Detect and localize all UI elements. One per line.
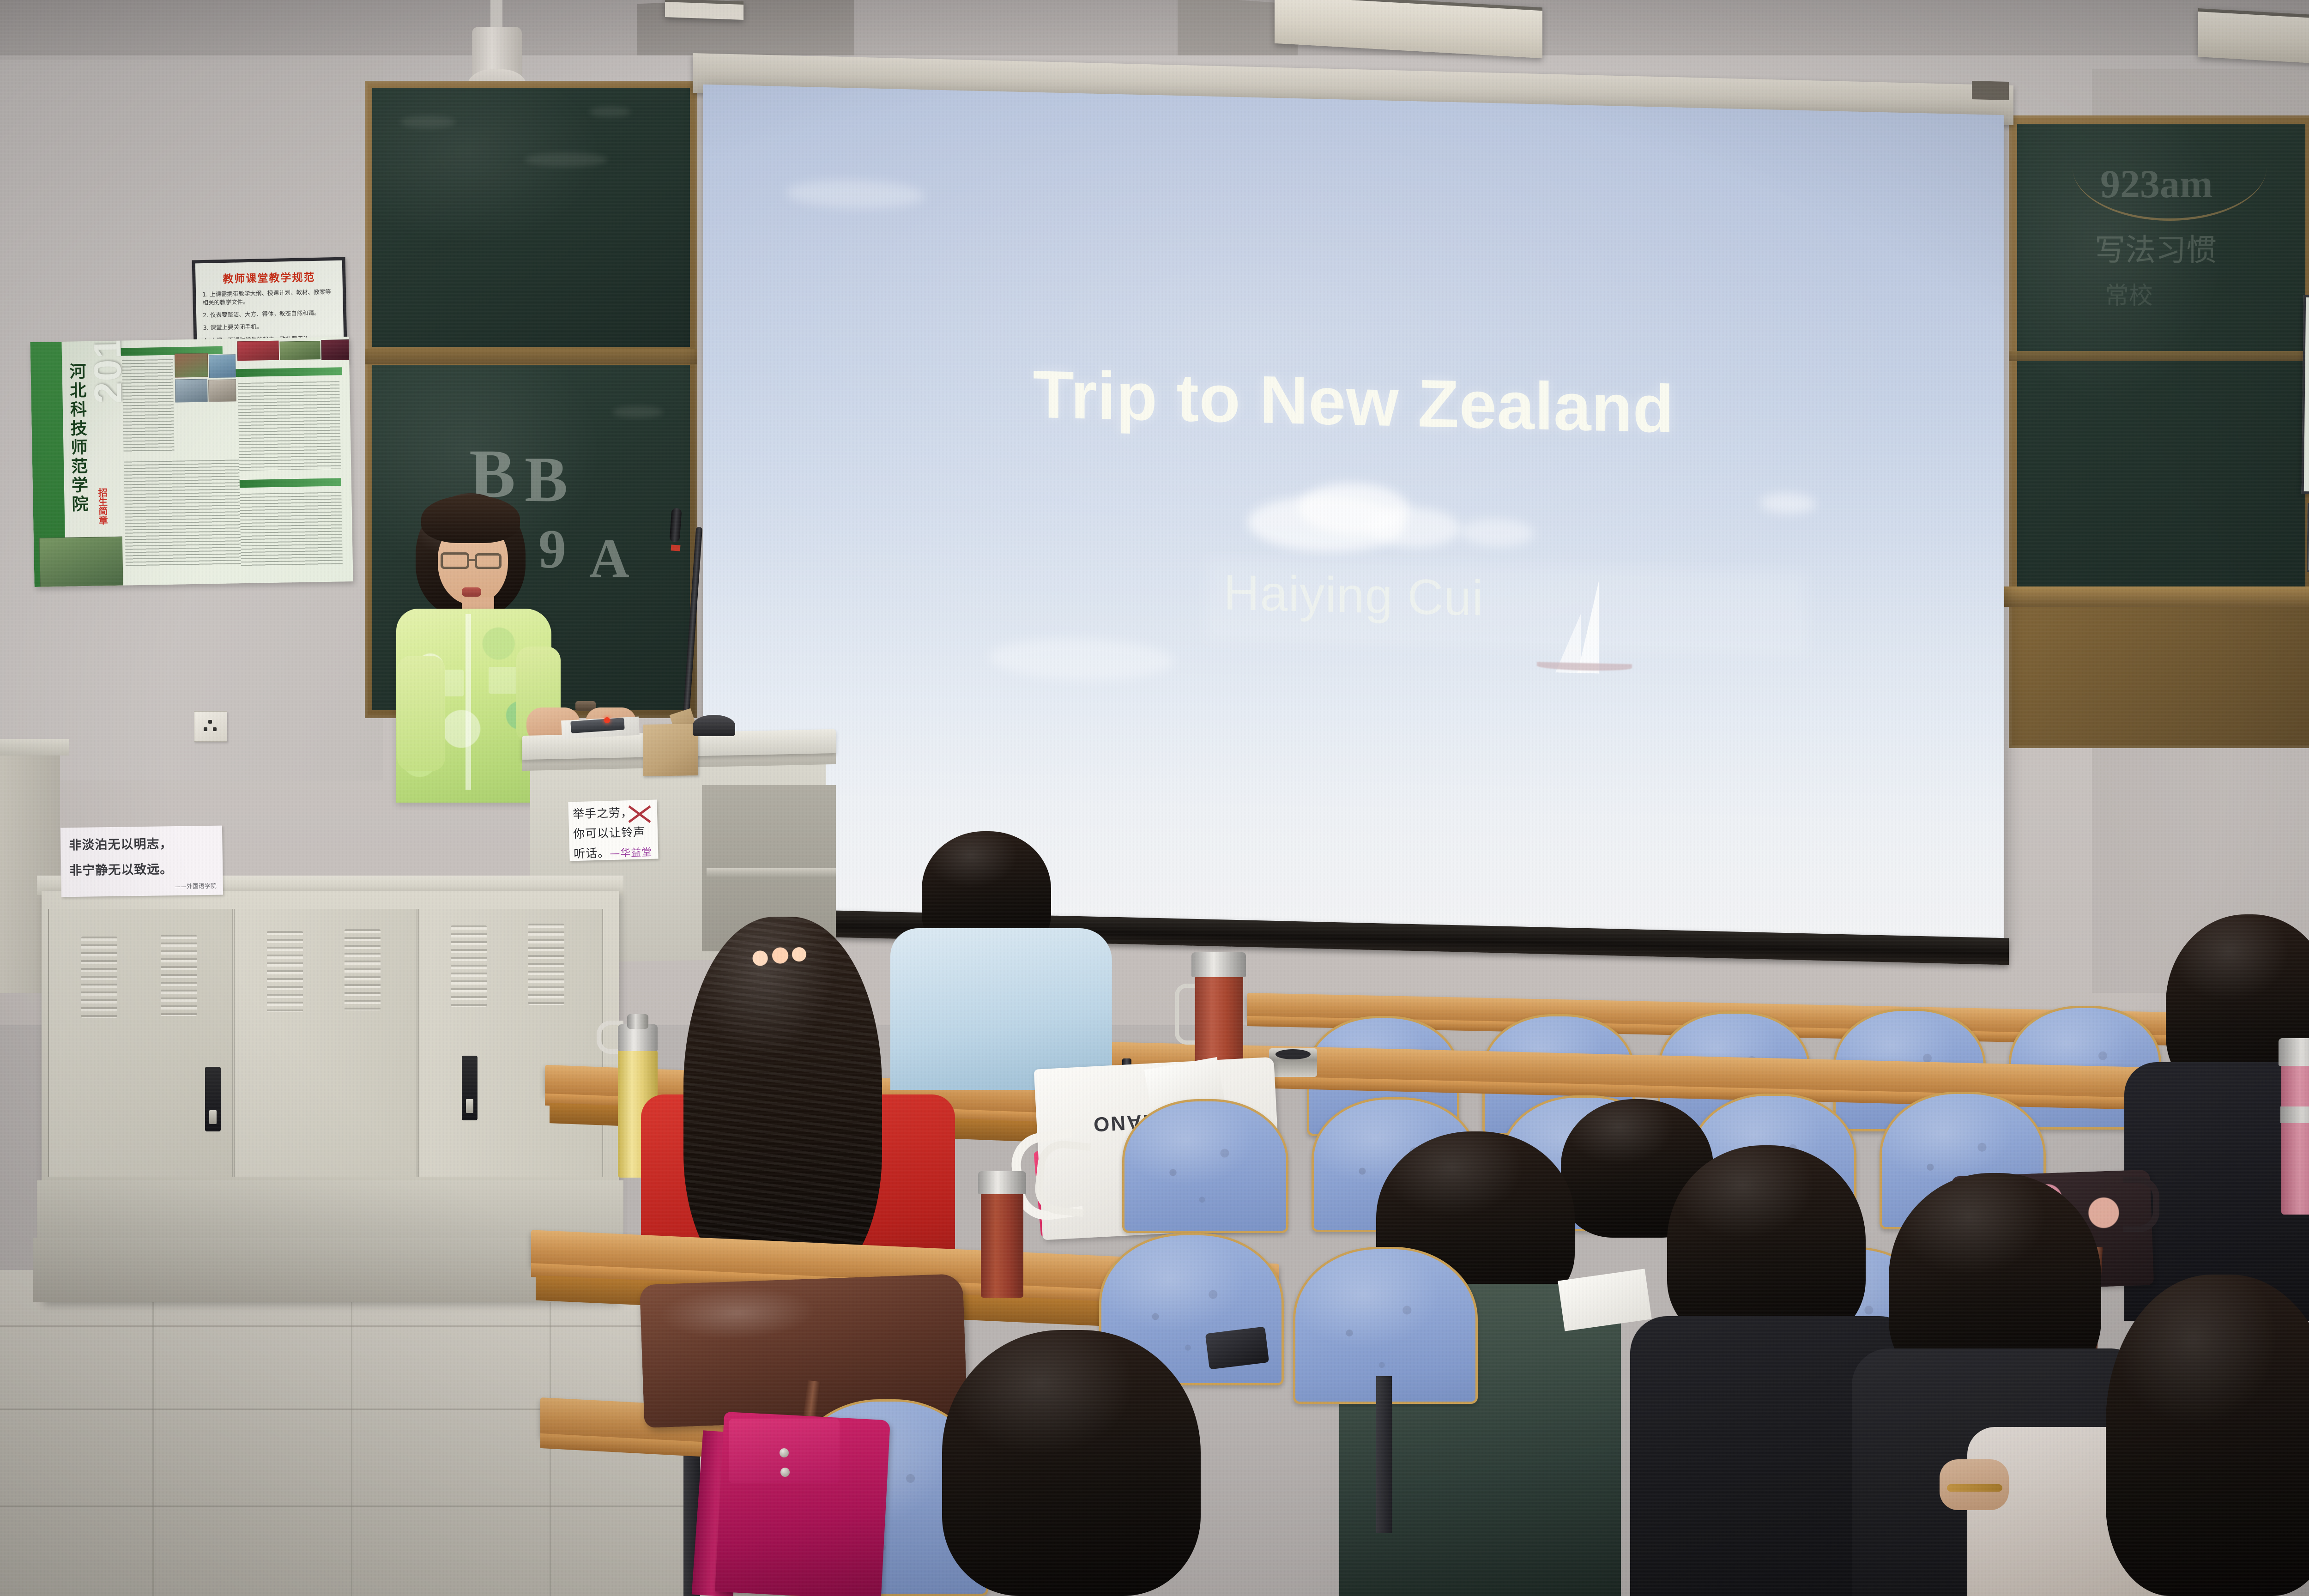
wall-notice <box>2307 503 2309 573</box>
poster-stamp: 招生简章 <box>96 488 109 525</box>
bracelet <box>1947 1484 2002 1492</box>
crossed-out-mark <box>627 804 652 824</box>
locker-vent <box>528 924 564 1005</box>
pink-thermos[interactable] <box>2281 1062 2309 1215</box>
chalk-letter: A <box>589 526 629 590</box>
locker-vent <box>345 929 381 1010</box>
poster-title: 教师课堂教学规范 <box>195 268 343 287</box>
bag-handle <box>2123 1177 2159 1232</box>
motto-line: 非淡泊无以明志， <box>69 833 223 853</box>
audience-person-long-hair <box>683 917 882 1286</box>
mobile-phone[interactable] <box>1205 1326 1269 1369</box>
poster-line: 1. 上课需携带教学大纲、授课计划、教材、教案等相关的教学文件。 <box>202 288 337 307</box>
red-thermos[interactable] <box>1195 973 1243 1070</box>
chalk-tray <box>2000 586 2309 607</box>
screen-mount-bracket <box>1972 81 2009 100</box>
thermos-knob <box>627 1014 648 1029</box>
thermos-cap <box>2279 1038 2309 1066</box>
locker-handle[interactable] <box>205 1067 221 1131</box>
locker-vent <box>161 935 197 1016</box>
poster-title: 学生课堂行为规范 <box>2306 303 2309 314</box>
presenter-eyeglasses <box>475 553 502 569</box>
recruitment-poster: 河北科技师范学院 2012 招生简章 <box>30 337 353 587</box>
audience-person-head <box>1667 1145 1866 1344</box>
presenter-mouth <box>462 587 481 597</box>
locker-door[interactable] <box>234 909 417 1177</box>
audience-person-head-foreground <box>2106 1275 2309 1596</box>
blackboard-left-upper <box>372 88 690 347</box>
microphone-indicator <box>671 544 681 551</box>
presenter-arm <box>397 656 445 771</box>
lectern-shelf <box>707 868 836 877</box>
projection-screen: Trip to New Zealand Haiying Cui <box>703 85 2004 946</box>
locker-vent <box>267 931 303 1012</box>
red-thermos[interactable] <box>981 1191 1023 1298</box>
sign-line: 听话。—华益堂 <box>574 842 659 861</box>
locker-door[interactable] <box>418 909 603 1177</box>
poster-line: 2. 仪表要整洁、大方、得体，教态自然和蔼。 <box>203 308 337 320</box>
power-outlet[interactable] <box>194 711 227 742</box>
cup-interior <box>1275 1049 1311 1059</box>
locker-handle[interactable] <box>462 1056 478 1120</box>
eyeglass-bridge <box>468 559 477 561</box>
paper-sheet <box>1558 1269 1651 1331</box>
sign-signature: —华益堂 <box>610 847 653 859</box>
locker-vent <box>81 937 117 1018</box>
audience-person-blue-shirt <box>890 928 1112 1090</box>
thermos-band <box>2280 1106 2309 1123</box>
seat-support-leg <box>1376 1376 1392 1533</box>
locker-vent <box>451 925 487 1007</box>
motto-attribution: ——外国语学院 <box>61 881 217 892</box>
fluorescent-light-fixture <box>665 0 743 20</box>
presenter-bangs <box>421 495 520 543</box>
blackboard-divider <box>365 349 697 364</box>
screen-glare <box>703 85 2004 946</box>
motto-sign: 非淡泊无以明志， 非宁静无以致远。 ——外国语学院 <box>60 826 223 897</box>
presenter-eyeglasses <box>441 552 469 569</box>
classroom-seat[interactable] <box>1122 1099 1288 1233</box>
cardboard-box <box>643 724 698 776</box>
thermos-cap <box>1191 952 1246 977</box>
clicker-laser-indicator <box>604 717 610 723</box>
motto-line: 非宁静无以致远。 <box>69 858 223 879</box>
chalk-letter: B <box>525 442 568 517</box>
bag-stud <box>780 1448 789 1457</box>
side-cabinet-top <box>0 739 69 756</box>
blackboard-divider <box>2009 351 2309 361</box>
blouse-placket <box>465 614 471 790</box>
poster-line: 3. 课堂上要关闭手机。 <box>203 321 337 332</box>
audience-person-head-foreground <box>942 1330 1201 1596</box>
microphone-base <box>693 715 735 736</box>
bag-stud <box>780 1468 790 1477</box>
chalk-letter: 9 <box>538 517 566 581</box>
classroom-presentation-photo: B B 9 A 923am 写法习惯 常校 教师课堂教学规范 1. 上课需携带教… <box>0 0 2309 1596</box>
thermos-cap <box>978 1171 1026 1194</box>
sign-line: 你可以让铃声 <box>573 822 658 841</box>
locker-door[interactable] <box>48 909 233 1177</box>
